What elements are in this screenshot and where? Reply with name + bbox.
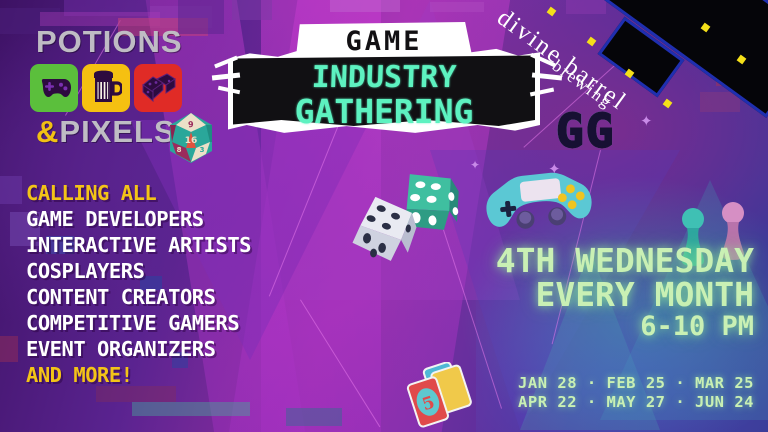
main-logo: GAME INDUSTRY GATHERING <box>228 22 540 134</box>
glitch-bar <box>96 386 176 402</box>
brand-word-pixels: &PIXELS <box>36 116 176 147</box>
brand-icon-row <box>30 64 182 112</box>
dice-icon-tile <box>134 64 182 112</box>
logo-line-gathering: GATHERING <box>295 92 474 131</box>
calling-item: INTERACTIVE ARTISTS <box>26 232 251 258</box>
playing-cards-prop: 5 <box>402 362 478 432</box>
white-die-prop <box>348 196 420 268</box>
event-poster: POTIONS <box>0 0 768 432</box>
logo-line-industry: INDUSTRY <box>311 60 457 95</box>
calling-heading: CALLING ALL <box>26 180 251 206</box>
svg-text:9: 9 <box>188 120 195 129</box>
schedule-line-time: 6-10 PM <box>496 313 754 341</box>
svg-text:16: 16 <box>185 136 198 146</box>
sparkle-icon: ✦ <box>640 112 653 130</box>
beer-mug-icon <box>90 70 122 106</box>
dates-row: JAN 28 · FEB 25 · MAR 25 <box>518 374 754 393</box>
brand-word-pixels-text: PIXELS <box>59 114 175 149</box>
gamepad-icon-tile <box>30 64 78 112</box>
logo-line-game: GAME <box>345 26 422 57</box>
gg-pixel-logo: GG <box>556 104 615 158</box>
calling-footer: AND MORE! <box>26 362 251 388</box>
ampersand-glyph: & <box>36 114 59 149</box>
calling-list: CALLING ALL GAME DEVELOPERS INTERACTIVE … <box>26 180 251 388</box>
d20-die-prop: 9 16 8 3 <box>166 112 216 164</box>
dates-block: JAN 28 · FEB 25 · MAR 25 APR 22 · MAY 27… <box>518 374 754 412</box>
glitch-bar <box>286 408 342 426</box>
calling-item: GAME DEVELOPERS <box>26 206 251 232</box>
glitch-bar <box>0 176 22 204</box>
dice-icon <box>140 73 176 103</box>
game-controller-prop <box>486 166 596 248</box>
glitch-bar <box>330 0 400 12</box>
schedule-block: 4TH WEDNESDAY EVERY MONTH 6-10 PM <box>496 244 754 341</box>
gamepad-icon <box>35 76 73 100</box>
calling-item: COSPLAYERS <box>26 258 251 284</box>
glitch-bar <box>566 0 606 14</box>
brand-lockup: POTIONS <box>36 26 236 57</box>
glitch-bar <box>0 336 18 362</box>
glitch-bar <box>132 402 250 416</box>
brand-word-potions: POTIONS <box>36 26 236 57</box>
glitch-bar <box>232 0 272 20</box>
sparkle-icon: ✦ <box>470 158 480 172</box>
calling-item: CONTENT CREATORS <box>26 284 251 310</box>
calling-item: EVENT ORGANIZERS <box>26 336 251 362</box>
calling-item: COMPETITIVE GAMERS <box>26 310 251 336</box>
svg-text:8: 8 <box>177 146 182 154</box>
beer-mug-icon-tile <box>82 64 130 112</box>
svg-text:3: 3 <box>200 146 205 154</box>
dates-row: APR 22 · MAY 27 · JUN 24 <box>518 393 754 412</box>
schedule-line-day: 4TH WEDNESDAY <box>496 244 754 278</box>
schedule-line-month: EVERY MONTH <box>496 278 754 312</box>
glitch-bar <box>430 2 484 12</box>
